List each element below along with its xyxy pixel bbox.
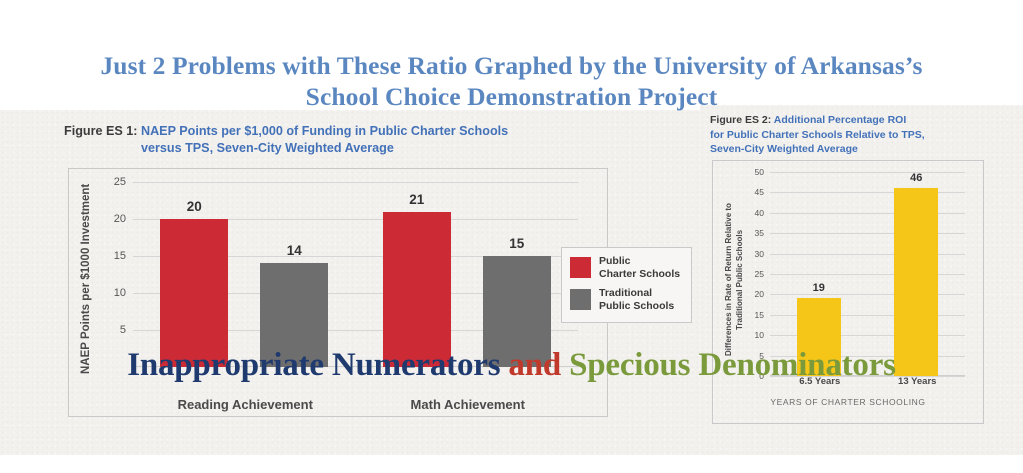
bar-value-label: 15 (509, 236, 524, 251)
legend-label-line-1: Public (599, 255, 680, 268)
y-axis-tick-label: 10 (114, 287, 126, 299)
y-axis-tick-label: 25 (755, 269, 764, 279)
figure2-caption-line-1: Additional Percentage ROI (774, 114, 906, 126)
page-title-line-2: School Choice Demonstration Project (0, 81, 1023, 112)
legend-label: TraditionalPublic Schools (599, 287, 674, 312)
figure2-caption-line-3: Seven-City Weighted Average (710, 143, 858, 155)
overlay-segment-3: Specious Denominators (569, 347, 896, 383)
bar-value-label: 46 (910, 172, 922, 184)
legend-label-line-2: Public Schools (599, 300, 674, 313)
overlay-segment-1: Inappropriate Numerators (127, 347, 500, 383)
page-title-line-1: Just 2 Problems with These Ratio Graphed… (0, 50, 1023, 81)
y-axis-tick-label: 20 (114, 213, 126, 225)
gridline: 50 (770, 172, 965, 173)
figure1-caption-text: NAEP Points per $1,000 of Funding in Pub… (141, 123, 508, 157)
page-title: Just 2 Problems with These Ratio Graphed… (0, 50, 1023, 112)
y-axis-tick-label: 15 (755, 310, 764, 320)
y-axis-tick-label: 35 (755, 228, 764, 238)
figure1-caption: Figure ES 1: NAEP Points per $1,000 of F… (64, 123, 624, 157)
y-axis-tick-label: 25 (114, 176, 126, 188)
legend-color-swatch (570, 257, 591, 278)
figure2-number: Figure ES 2: (710, 114, 771, 126)
figure1-plot-area: 51015202520142115 (133, 182, 578, 367)
overlay-segment-2: and (500, 347, 569, 383)
y-axis-tick-label: 20 (755, 289, 764, 299)
x-axis-category-label: Math Achievement (411, 397, 525, 412)
y-axis-tick-label: 40 (755, 208, 764, 218)
bar-value-label: 19 (813, 282, 825, 294)
figure1-caption-line-2: versus TPS, Seven-City Weighted Average (141, 141, 394, 155)
y-axis-tick-label: 15 (114, 250, 126, 262)
legend-label: PublicCharter Schools (599, 255, 680, 280)
figure2-x-axis-title: YEARS OF CHARTER SCHOOLING (713, 397, 983, 407)
legend-label-line-1: Traditional (599, 287, 674, 300)
y-axis-tick-label: 30 (755, 249, 764, 259)
figure1-caption-line-1: NAEP Points per $1,000 of Funding in Pub… (141, 124, 508, 138)
bar-value-label: 20 (187, 199, 202, 214)
overlay-banner-text: Inappropriate Numerators and Specious De… (0, 345, 1023, 385)
figure2-caption-line-2: for Public Charter Schools Relative to T… (710, 129, 925, 141)
gridline: 25 (133, 182, 578, 183)
slide-canvas: Just 2 Problems with These Ratio Graphed… (0, 0, 1023, 473)
bar-value-label: 21 (409, 192, 424, 207)
legend-item: TraditionalPublic Schools (570, 287, 683, 312)
bar-value-label: 14 (287, 243, 302, 258)
legend-color-swatch (570, 289, 591, 310)
y-axis-tick-label: 10 (755, 330, 764, 340)
figure1-legend: PublicCharter SchoolsTraditionalPublic S… (561, 247, 692, 323)
legend-item: PublicCharter Schools (570, 255, 683, 280)
y-axis-tick-label: 50 (755, 167, 764, 177)
figure2-caption: Figure ES 2: Additional Percentage ROI f… (710, 113, 1010, 157)
legend-label-line-2: Charter Schools (599, 268, 680, 281)
y-axis-tick-label: 45 (755, 187, 764, 197)
bar: 21 (383, 212, 451, 367)
figure1-number: Figure ES 1: (64, 124, 137, 138)
x-axis-category-label: Reading Achievement (178, 397, 313, 412)
y-axis-tick-label: 5 (120, 324, 126, 336)
